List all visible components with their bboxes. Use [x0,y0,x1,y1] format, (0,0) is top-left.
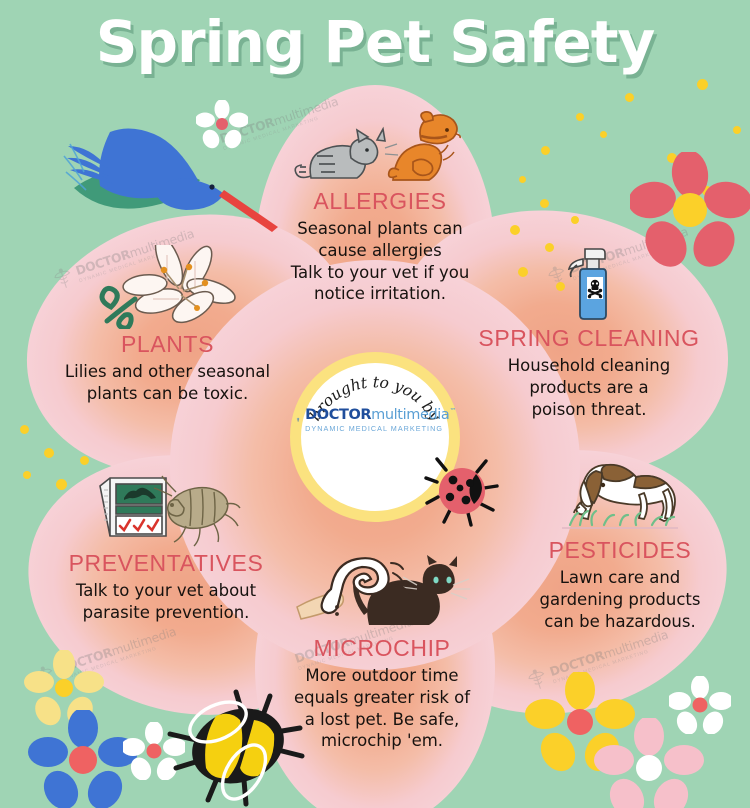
section-title: MICROCHIP [272,635,492,662]
section-body: Lilies and other seasonal plants can be … [40,361,295,405]
cat-and-scratching-dog-icon [293,110,468,186]
pollen-dot [600,131,607,138]
pollen-dot [519,176,526,183]
logo-wordmark: DOCTORmultimedia™ [305,408,456,423]
white-flower-icon [196,100,248,150]
section-body: Household cleaning products are a poison… [465,355,713,420]
pollen-dot [80,456,89,465]
section-microchip: MICROCHIP More outdoor time equals great… [272,555,492,752]
ladybug-icon [424,452,500,528]
section-allergies: ALLERGIES Seasonal plants can cause alle… [265,110,495,305]
section-title: PESTICIDES [505,537,735,564]
doctor-multimedia-logo: DOCTORmultimedia™ DYNAMIC MEDICAL MARKET… [296,404,456,436]
pollen-dot [510,225,520,235]
section-title: SPRING CLEANING [465,325,713,352]
section-preventatives: PREVENTATIVES Talk to your vet about par… [42,470,290,624]
logo-tagline: DYNAMIC MEDICAL MARKETING [305,425,456,432]
section-title: ALLERGIES [265,188,495,215]
pollen-dot [625,93,634,102]
pollen-dot [44,448,54,458]
section-body: Talk to your vet about parasite preventi… [42,580,290,624]
pollen-dot [541,146,550,155]
section-title: PREVENTATIVES [42,550,290,577]
infographic-canvas: Spring Pet Safety DOCTORmultimedia DYNAM… [0,0,750,808]
dog-sniffing-grass-icon [540,455,700,535]
section-body: Seasonal plants can cause allergies Talk… [265,218,495,305]
pollen-dot [540,199,549,208]
pollen-dot [697,79,708,90]
spray-bottle-poison-icon [553,243,625,323]
section-spring-cleaning: SPRING CLEANING Household cleaning produ… [465,243,713,420]
lily-flower-icon [93,245,243,329]
section-body: Lawn care and gardening products can be … [505,567,735,632]
section-body: More outdoor time equals greater risk of… [272,665,492,752]
caduceus-logo-icon [296,404,300,436]
pink-flower-icon [594,718,704,808]
section-title: PLANTS [40,331,295,358]
pollen-dot [576,113,584,121]
pollen-dot [733,126,741,134]
flea-treatment-box-and-flea-icon [86,470,246,548]
section-plants: PLANTS Lilies and other seasonal plants … [40,245,295,405]
blue-flower-icon [28,710,138,808]
section-pesticides: PESTICIDES Lawn care and gardening produ… [505,455,735,632]
microchip-scanner-and-cat-icon [295,555,470,633]
pollen-dot [20,425,29,434]
pollen-dot [571,216,579,224]
page-title: Spring Pet Safety [0,8,750,76]
pollen-dot [23,471,31,479]
